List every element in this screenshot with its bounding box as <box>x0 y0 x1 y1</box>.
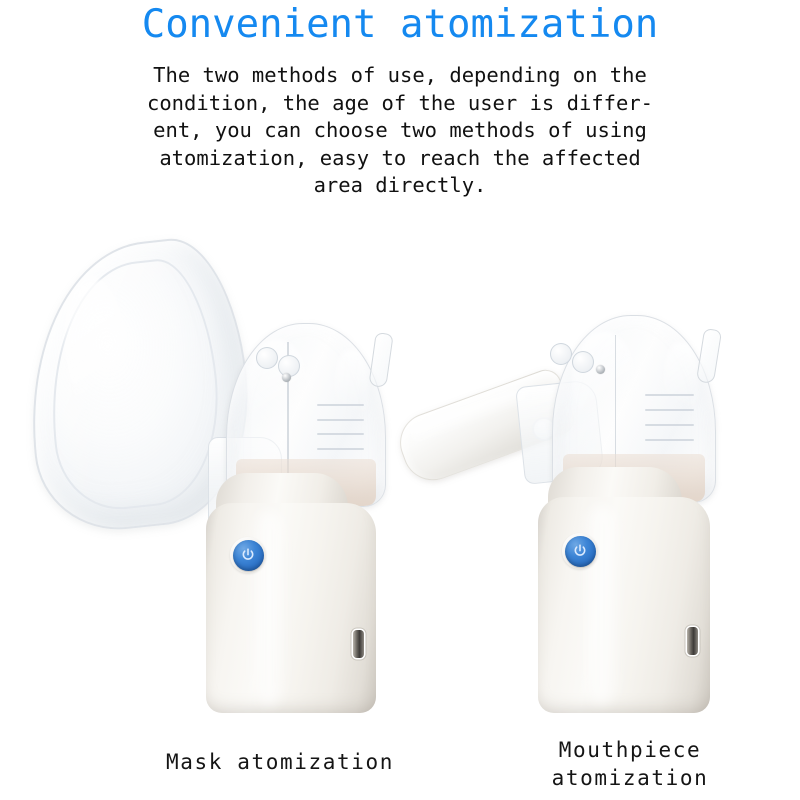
reservoir-knob <box>550 343 572 365</box>
caption-line: atomization <box>490 764 770 792</box>
description-line: ent, you can choose two methods of using <box>78 117 722 145</box>
reservoir-screw <box>596 365 605 374</box>
reservoir-clip <box>368 332 393 388</box>
power-icon <box>230 537 266 573</box>
description-paragraph: The two methods of use, depending on the… <box>78 62 722 200</box>
reservoir-rib <box>645 394 694 396</box>
power-icon <box>562 533 598 569</box>
reservoir-gloss <box>572 331 637 433</box>
reservoir-rib <box>317 433 364 435</box>
description-line: The two methods of use, depending on the <box>78 62 722 90</box>
reservoir-gloss <box>334 349 369 433</box>
reservoir-seam <box>615 335 617 469</box>
micro-usb-port <box>353 630 364 658</box>
caption-mouthpiece-atomization: Mouthpiece atomization <box>490 736 770 792</box>
reservoir-gloss <box>663 342 699 428</box>
reservoir-screw <box>282 373 291 382</box>
caption-line: Mask atomization <box>80 748 480 776</box>
reservoir-knob <box>256 347 278 369</box>
reservoir-rib <box>317 404 364 406</box>
micro-usb-port <box>687 627 698 655</box>
product-photo-stage <box>0 225 800 725</box>
description-line: area directly. <box>78 172 722 200</box>
product-image-mask-atomization <box>20 225 400 715</box>
power-button[interactable] <box>230 537 266 573</box>
description-line: condition, the age of the user is differ… <box>78 90 722 118</box>
reservoir-rib <box>317 419 364 421</box>
reservoir-rib <box>645 409 694 411</box>
reservoir-knob <box>572 351 594 373</box>
face-mask-rim <box>37 254 229 515</box>
reservoir-rib <box>317 448 364 450</box>
power-button[interactable] <box>562 533 598 569</box>
device-body <box>206 503 376 713</box>
product-image-mouthpiece-atomization <box>400 225 780 715</box>
page-title: Convenient atomization <box>0 2 800 48</box>
reservoir-rib <box>645 439 694 441</box>
description-line: atomization, easy to reach the affected <box>78 145 722 173</box>
caption-mask-atomization: Mask atomization <box>80 748 480 776</box>
reservoir-clip <box>696 328 722 384</box>
caption-line: Mouthpiece <box>490 736 770 764</box>
reservoir-gloss <box>246 339 309 439</box>
reservoir-rib <box>645 424 694 426</box>
device-body <box>538 497 710 713</box>
